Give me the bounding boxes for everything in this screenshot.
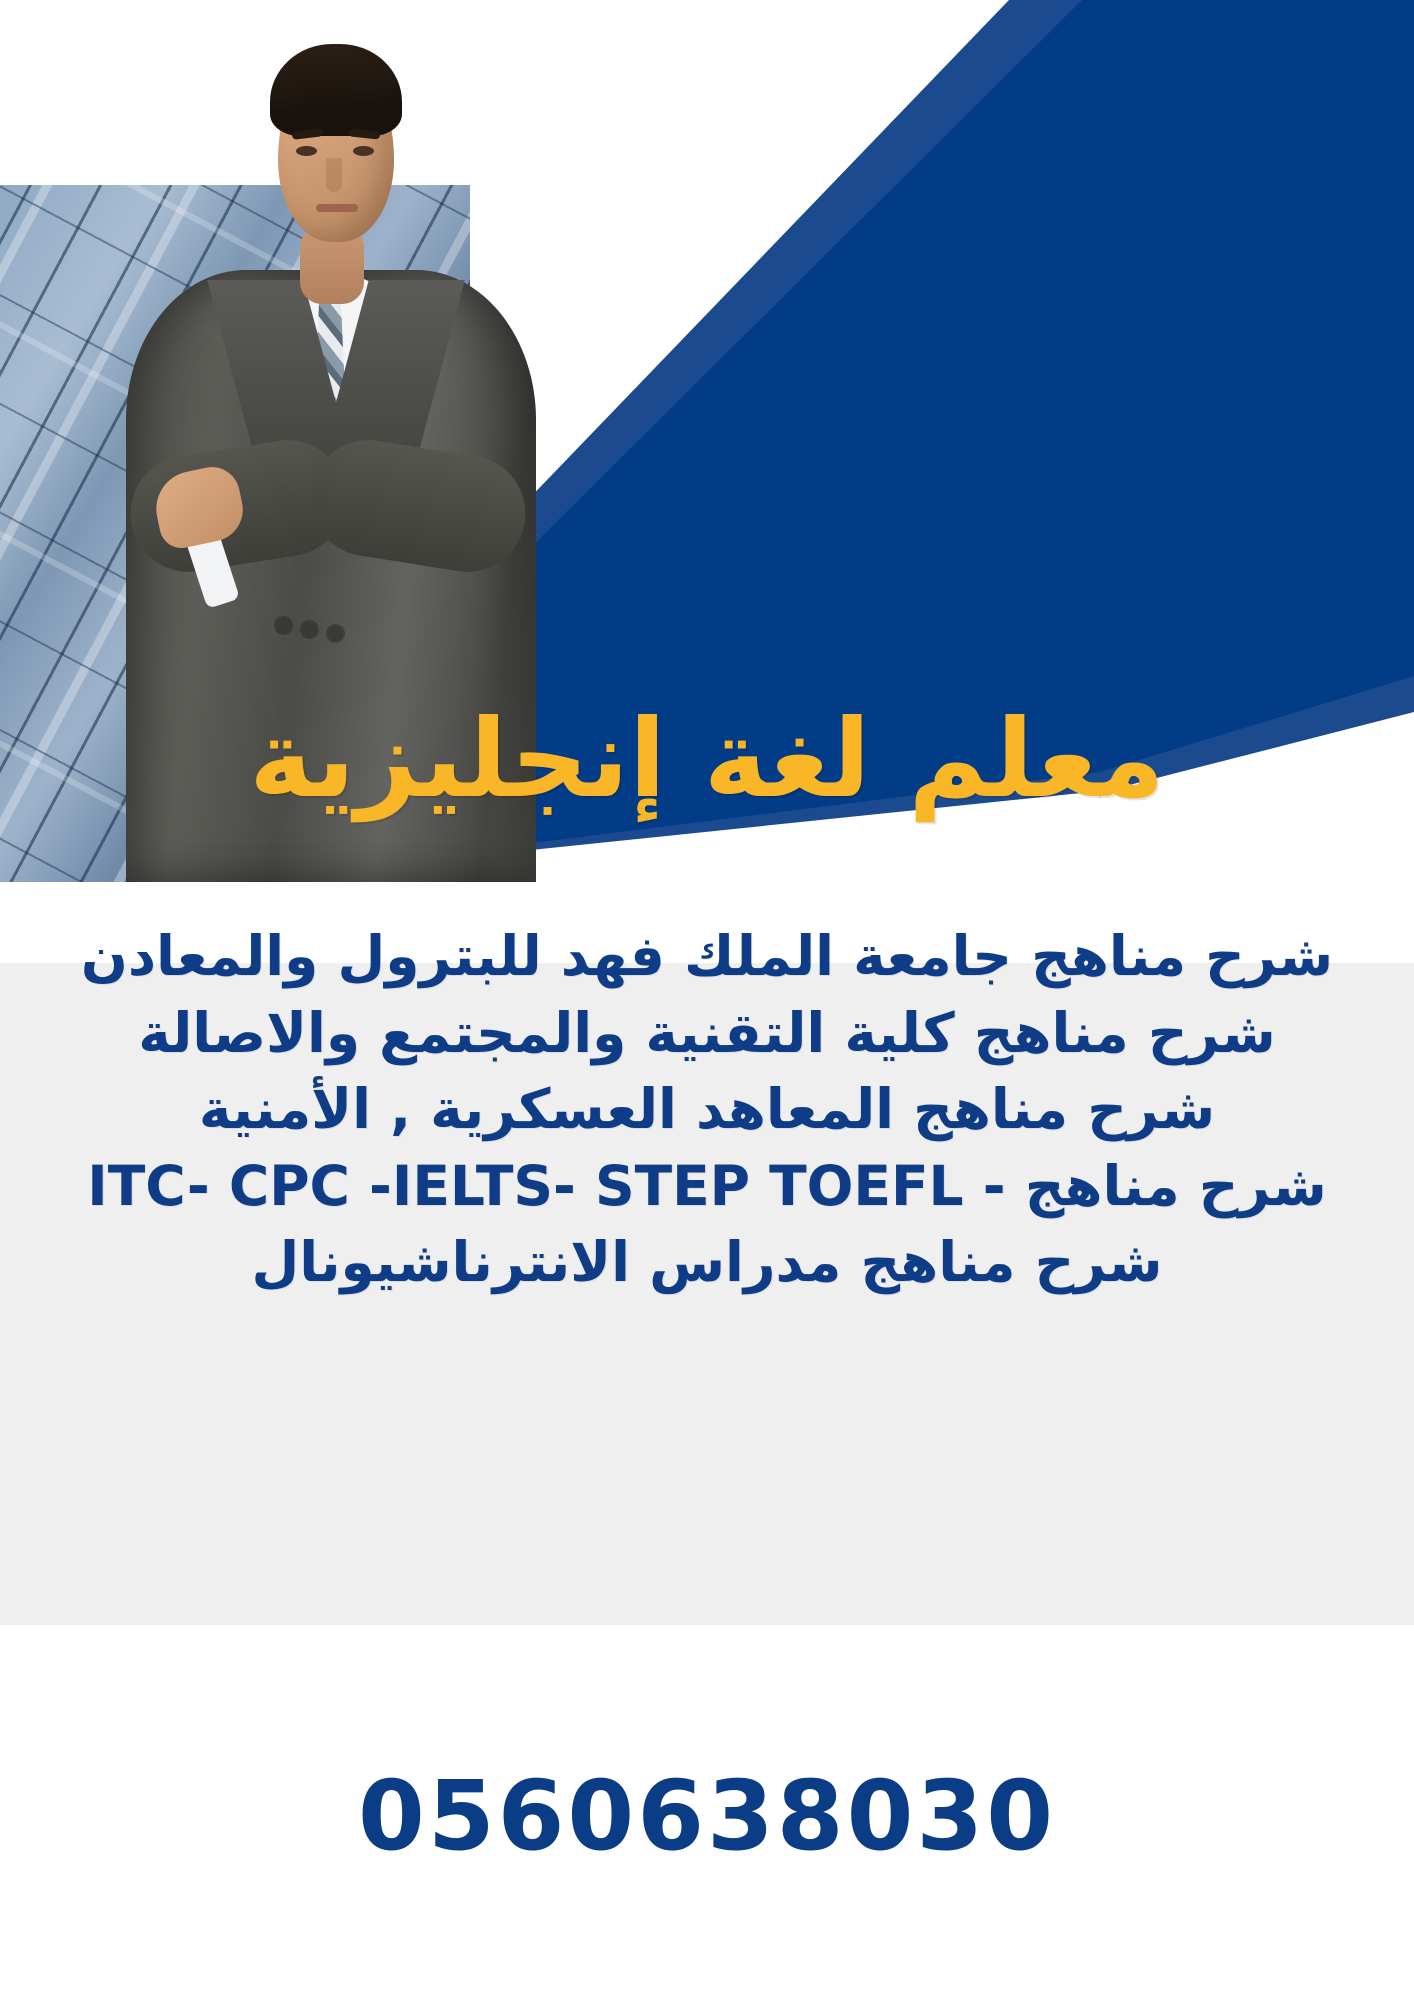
poster-canvas: معلم لغة إنجليزية شرح مناهج جامعة الملك …: [0, 0, 1414, 2000]
suit-button-1: [276, 618, 291, 633]
service-line-1: شرح مناهج جامعة الملك فهد للبترول والمعا…: [28, 920, 1386, 993]
suit-button-3: [328, 626, 343, 641]
poster-headline: معلم لغة إنجليزية: [0, 706, 1414, 814]
contact-phone-number[interactable]: 0560638030: [0, 1760, 1414, 1872]
hair: [270, 44, 402, 136]
service-line-5: شرح مناهج مدراس الانترناشيونال: [28, 1226, 1386, 1299]
service-line-3: شرح مناهج المعاهد العسكرية , الأمنية: [28, 1073, 1386, 1146]
services-list: شرح مناهج جامعة الملك فهد للبترول والمعا…: [0, 920, 1414, 1303]
eye-left: [296, 146, 317, 156]
mouth: [316, 204, 358, 212]
nose: [326, 158, 342, 192]
service-line-2: شرح مناهج كلية التقنية والمجتمع والاصالة: [28, 997, 1386, 1070]
eye-right: [353, 146, 374, 156]
suit-button-2: [302, 622, 317, 637]
service-line-4: شرح مناهج - ITC- CPC -IELTS- STEP TOEFL: [28, 1150, 1386, 1223]
